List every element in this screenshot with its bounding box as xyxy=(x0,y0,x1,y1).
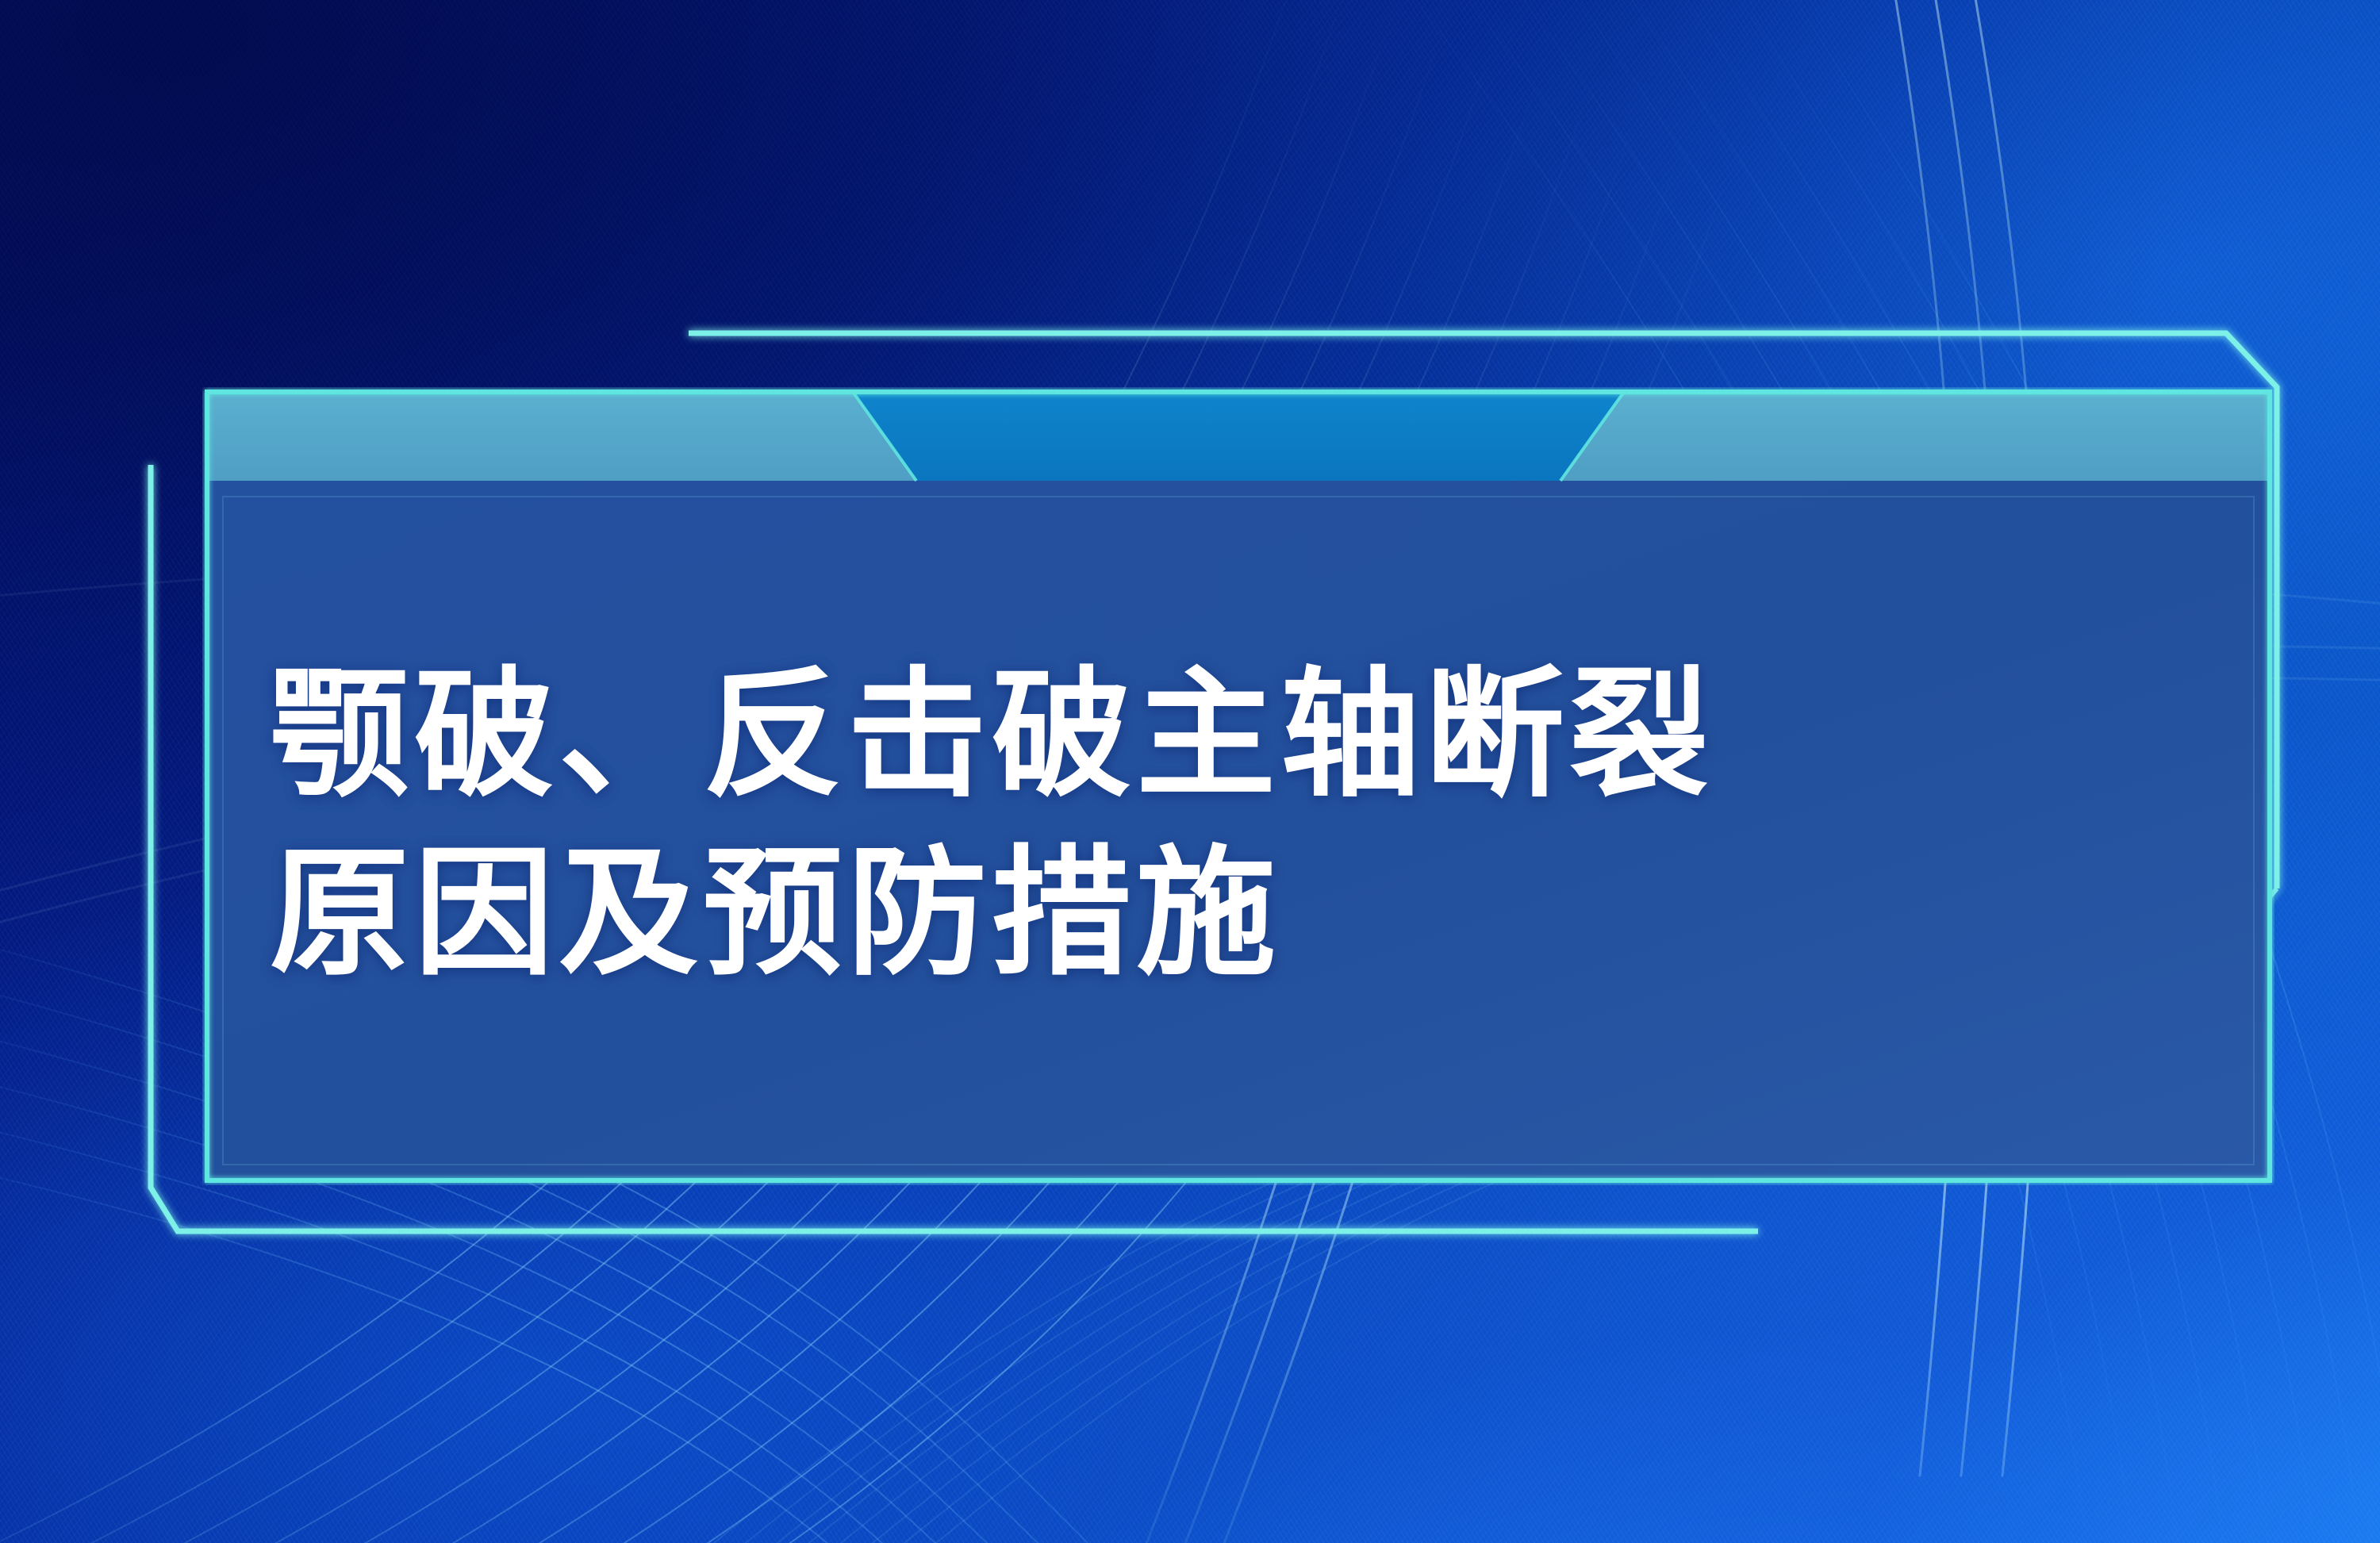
title-line-2: 原因及预防措施 xyxy=(270,824,2274,1003)
poster-title: 颚破、反击破主轴断裂 原因及预防措施 xyxy=(202,387,2274,1185)
title-card: 颚破、反击破主轴断裂 原因及预防措施 xyxy=(202,387,2274,1185)
title-line-1: 颚破、反击破主轴断裂 xyxy=(270,646,2274,824)
